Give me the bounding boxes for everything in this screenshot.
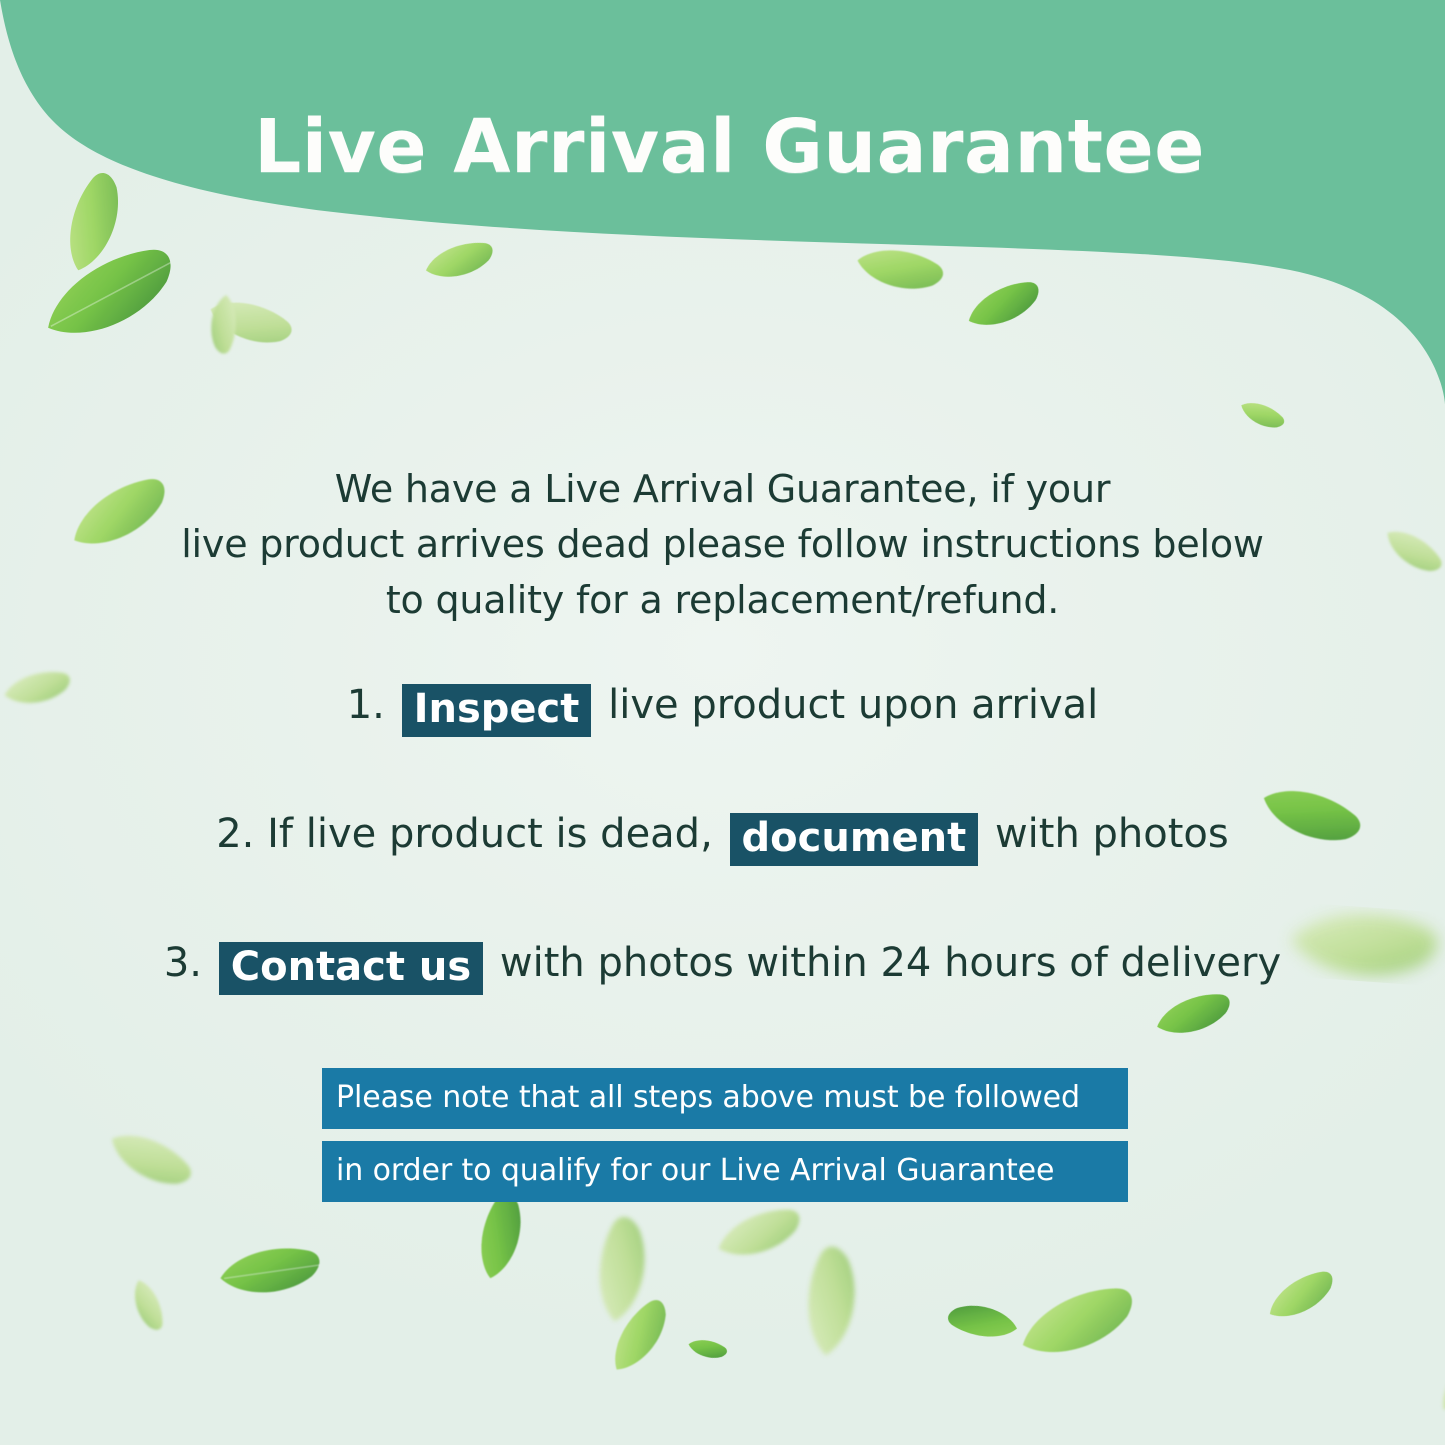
step-number: 1. [347,682,385,728]
header-green-shape [0,0,1445,460]
page-title: Live Arrival Guarantee [0,110,1445,184]
step-text-after: with photos [995,811,1229,857]
list-item: 3. Contact us with photos within 24 hour… [0,938,1445,991]
intro-line-1: We have a Live Arrival Guarantee, if you… [0,462,1445,517]
step-highlight-inspect: Inspect [402,684,592,737]
step-number: 3. [164,940,202,986]
step-text-after: with photos within 24 hours of delivery [500,940,1281,986]
step-text-before: If live product is dead, [267,811,713,857]
footer-note: Please note that all steps above must be… [322,1068,1128,1202]
instruction-steps-list: 1. Inspect live product upon arrival 2. … [0,680,1445,991]
step-highlight-contact-us: Contact us [219,942,483,995]
list-item: 1. Inspect live product upon arrival [0,680,1445,733]
note-line-1: Please note that all steps above must be… [322,1068,1128,1129]
live-arrival-guarantee-poster: Live Arrival Guarantee We have a Live Ar… [0,0,1445,1445]
intro-line-2: live product arrives dead please follow … [0,517,1445,572]
note-line-2: in order to qualify for our Live Arrival… [322,1141,1128,1202]
header-blob-svg [0,0,1445,460]
step-number: 2. [216,811,254,857]
step-highlight-document: document [730,813,979,866]
list-item: 2. If live product is dead, document wit… [0,809,1445,862]
intro-line-3: to quality for a replacement/refund. [0,573,1445,628]
step-text-after: live product upon arrival [608,682,1098,728]
intro-paragraph: We have a Live Arrival Guarantee, if you… [0,462,1445,628]
